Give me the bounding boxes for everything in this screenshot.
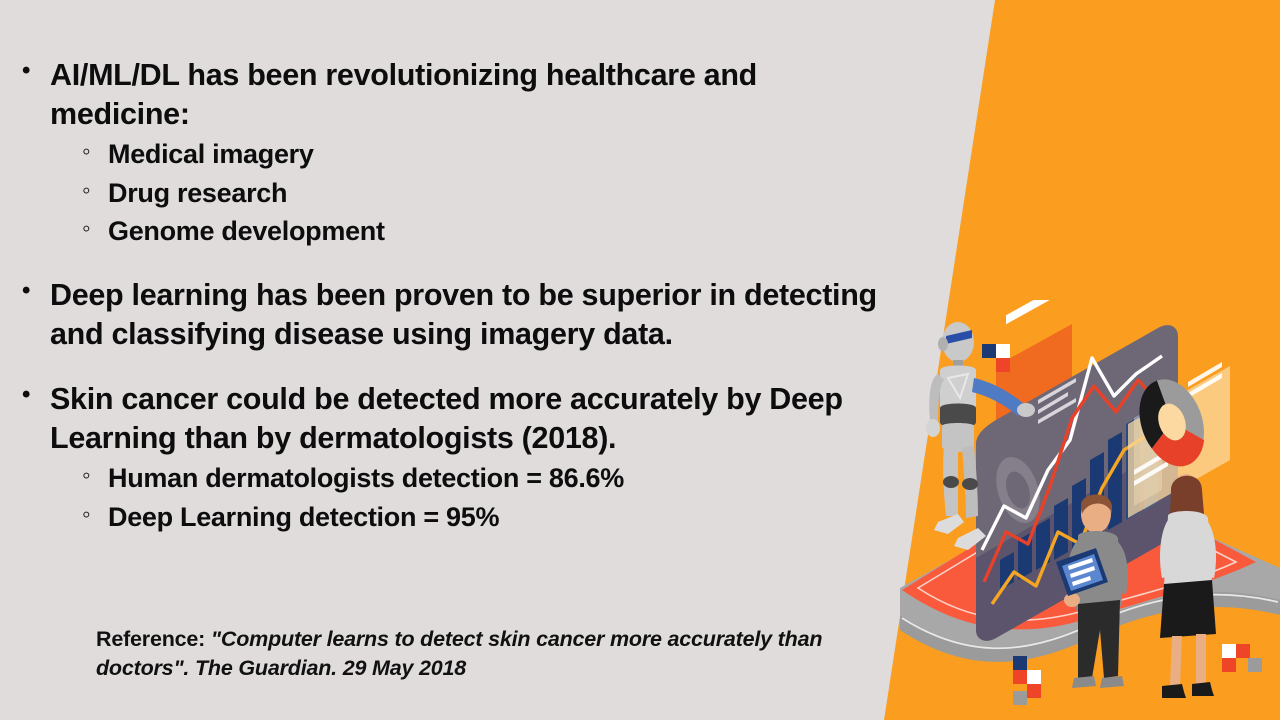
sub-bullet-1-3: Genome development <box>108 212 894 250</box>
pixel-square-white-2 <box>1027 670 1041 684</box>
bullet-item-1: AI/ML/DL has been revolutionizing health… <box>14 56 894 250</box>
sub-bullet-list-1: Medical imagery Drug research Genome dev… <box>50 135 894 250</box>
spacer-1 <box>14 250 894 276</box>
pixel-square-grey-2 <box>1013 691 1027 705</box>
bullet-item-2: Deep learning has been proven to be supe… <box>14 276 894 353</box>
sub-bullet-1-2: Drug research <box>108 174 894 212</box>
bullet-content: AI/ML/DL has been revolutionizing health… <box>14 56 894 536</box>
pixel-square-red-4 <box>1236 644 1250 658</box>
sub-bullet-3-1: Human dermatologists detection = 86.6% <box>108 459 894 497</box>
bullet-list: AI/ML/DL has been revolutionizing health… <box>14 56 894 536</box>
sub-bullet-3-2: Deep Learning detection = 95% <box>108 498 894 536</box>
bullet-text-2: Deep learning has been proven to be supe… <box>50 276 894 353</box>
reference-note: Reference: "Computer learns to detect sk… <box>96 625 856 683</box>
bullet-text-1: AI/ML/DL has been revolutionizing health… <box>50 56 894 133</box>
reference-label: Reference: <box>96 627 211 651</box>
pixel-square-navy <box>982 344 996 358</box>
pixel-square-white-3 <box>1222 644 1236 658</box>
slide-canvas: AI/ML/DL has been revolutionizing health… <box>0 0 1280 720</box>
sub-bullet-list-3: Human dermatologists detection = 86.6% D… <box>50 459 894 536</box>
pixel-square-red-2 <box>1013 670 1027 684</box>
sub-bullet-1-1: Medical imagery <box>108 135 894 173</box>
pixel-square-white <box>996 344 1010 358</box>
pixel-square-red <box>996 358 1010 372</box>
pixel-square-red-3 <box>1027 684 1041 698</box>
spacer-2 <box>14 354 894 380</box>
pixel-square-grey-3 <box>1248 658 1262 672</box>
pixel-square-red-5 <box>1222 658 1236 672</box>
bullet-item-3: Skin cancer could be detected more accur… <box>14 380 894 536</box>
pixel-square-navy-2 <box>1013 656 1027 670</box>
bullet-text-3: Skin cancer could be detected more accur… <box>50 380 894 457</box>
